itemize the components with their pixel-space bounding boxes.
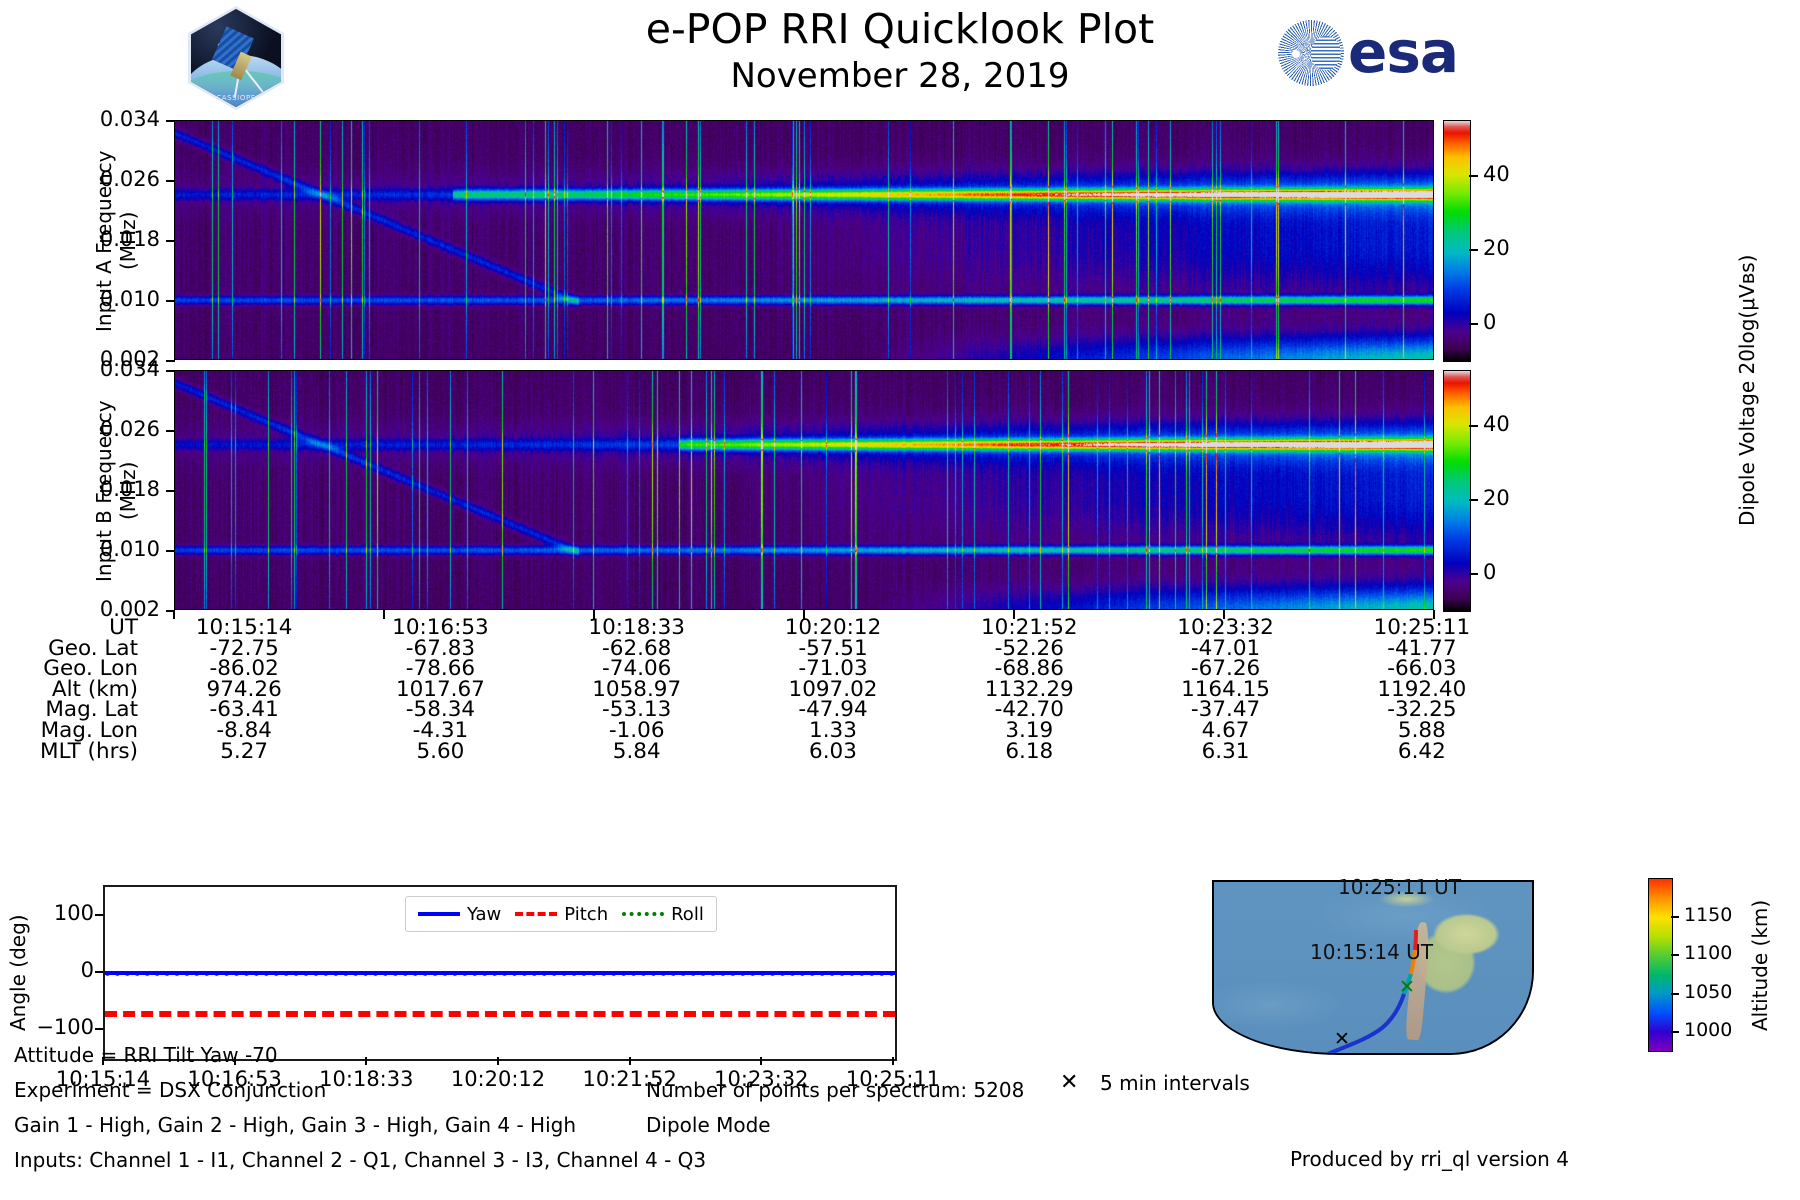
attitude-xtick-label: 10:20:12: [433, 1067, 563, 1091]
colorbar-tick-label: 40: [1483, 412, 1510, 436]
esa-swirl-icon: [1278, 20, 1344, 86]
ephemeris-cell: 5.27: [146, 742, 342, 763]
ephemeris-cell: 6.03: [735, 742, 931, 763]
map-colorbar-tick-label: 1050: [1684, 981, 1732, 1003]
spectrogram-xtick-mark: [383, 610, 385, 619]
spectrogram-a-colorbar: [1443, 120, 1471, 362]
ephemeris-cell: 6.18: [931, 742, 1127, 763]
spectrogram-image: [175, 121, 1433, 359]
ephemeris-cell: 6.42: [1324, 742, 1520, 763]
map-orbit-track: [1214, 882, 1534, 1055]
spectrogram-ytick-mark: [166, 240, 175, 242]
spectrogram-ytick-label: 0.002: [55, 597, 160, 621]
spectrogram-ytick-label: 0.018: [55, 227, 160, 251]
spectrogram-ytick-mark: [166, 120, 175, 122]
footer-inputs: Inputs: Channel 1 - I1, Channel 2 - Q1, …: [14, 1148, 706, 1172]
attitude-xtick-label: 10:16:53: [170, 1067, 300, 1091]
spectrogram-ytick-mark: [166, 180, 175, 182]
map-marker-mid-x: ✕: [1399, 978, 1415, 997]
attitude-series-yaw: [105, 971, 895, 975]
colorbar-tick-mark: [1469, 499, 1478, 501]
ephemeris-cell: 5.60: [342, 742, 538, 763]
ephemeris-row: MLT (hrs)5.275.605.846.036.186.316.42: [0, 742, 1520, 763]
legend-swatch-yaw: [418, 912, 460, 916]
legend-label: Roll: [671, 904, 704, 925]
ephemeris-cell: 5.84: [539, 742, 735, 763]
legend-label: Yaw: [467, 904, 501, 925]
attitude-series-pitch: [105, 1011, 895, 1017]
attitude-xtick-mark: [497, 1057, 499, 1065]
attitude-ytick-mark: [95, 914, 103, 916]
colorbar-tick-label: 40: [1483, 162, 1510, 186]
colorbar-tick-label: 0: [1483, 560, 1496, 584]
cassiope-mission-patch-icon: CASSIOPE: [188, 6, 284, 110]
footer-produced-by: Produced by rri_ql version 4: [1290, 1147, 1569, 1171]
attitude-ytick-label: 100: [22, 901, 94, 925]
spectrogram-b-panel[interactable]: [174, 370, 1434, 610]
spectrogram-ytick-mark: [166, 550, 175, 552]
attitude-xtick-mark: [234, 1057, 236, 1065]
map-colorbar-tick-mark: [1671, 916, 1679, 918]
map-colorbar-tick-label: 1150: [1684, 904, 1732, 926]
spectrogram-b-colorbar: [1443, 370, 1471, 612]
attitude-xtick-label: 10:21:52: [565, 1067, 695, 1091]
map-colorbar-tick-mark: [1671, 1031, 1679, 1033]
footer-attitude: Attitude = RRI Tilt Yaw -70: [14, 1043, 278, 1067]
map-marker-start-x: ✕: [1334, 1030, 1350, 1049]
spectrogram-ytick-label: 0.034: [55, 107, 160, 131]
map-label-end-time: 10:25:11 UT: [1338, 875, 1461, 899]
colorbar-tick-mark: [1469, 573, 1478, 575]
attitude-ytick-mark: [95, 1028, 103, 1030]
spectrogram-ytick-mark: [166, 370, 175, 372]
spectrogram-ytick-label: 0.026: [55, 167, 160, 191]
esa-logo: esa: [1278, 16, 1474, 90]
spectrogram-ytick-label: 0.034: [55, 357, 160, 381]
spectrogram-ytick-label: 0.018: [55, 477, 160, 501]
legend-swatch-roll: [622, 912, 664, 916]
attitude-xtick-label: 10:25:11: [828, 1067, 958, 1091]
spectrogram-ytick-mark: [166, 430, 175, 432]
ephemeris-table: UT10:15:1410:16:5310:18:3310:20:1210:21:…: [0, 618, 1520, 762]
spectrogram-ytick-mark: [166, 360, 175, 362]
attitude-xtick-mark: [102, 1057, 104, 1065]
spectrogram-xtick-mark: [803, 610, 805, 619]
legend-label: Pitch: [564, 904, 608, 925]
map-altitude-colorbar: [1648, 878, 1673, 1052]
attitude-ytick-label: 0: [22, 958, 94, 982]
map-colorbar-label: Altitude (km): [1748, 880, 1772, 1050]
colorbar-tick-mark: [1469, 249, 1478, 251]
colorbar-tick-mark: [1469, 323, 1478, 325]
spectrogram-ytick-mark: [166, 490, 175, 492]
spectrogram-xtick-mark: [1223, 610, 1225, 619]
esa-wordmark: esa: [1348, 22, 1458, 82]
attitude-xtick-mark: [365, 1057, 367, 1065]
attitude-ytick-mark: [95, 971, 103, 973]
map-colorbar-tick-mark: [1671, 993, 1679, 995]
attitude-xtick-label: 10:23:32: [696, 1067, 826, 1091]
spectrogram-xtick-mark: [173, 610, 175, 619]
spectrogram-ytick-label: 0.010: [55, 537, 160, 561]
ground-track-map[interactable]: ✕ ✕: [1212, 880, 1534, 1055]
legend-item-roll[interactable]: Roll: [622, 904, 704, 925]
spectrogram-xtick-mark: [1013, 610, 1015, 619]
spectrogram-ytick-label: 0.026: [55, 417, 160, 441]
map-colorbar-tick-label: 1000: [1684, 1019, 1732, 1041]
colorbar-tick-label: 20: [1483, 486, 1510, 510]
ephemeris-cell: 6.31: [1127, 742, 1323, 763]
spectrogram-ytick-label: 0.010: [55, 287, 160, 311]
legend-item-yaw[interactable]: Yaw: [418, 904, 501, 925]
footer-mode: Dipole Mode: [646, 1113, 771, 1137]
attitude-xtick-label: 10:15:14: [38, 1067, 168, 1091]
colorbar-tick-mark: [1469, 175, 1478, 177]
spectrogram-a-panel[interactable]: [174, 120, 1434, 360]
legend-swatch-pitch: [515, 912, 557, 916]
map-colorbar-tick-label: 1100: [1684, 942, 1732, 964]
mission-patch-label: CASSIOPE: [191, 94, 281, 102]
attitude-xtick-mark: [892, 1057, 894, 1065]
colorbar-tick-mark: [1469, 425, 1478, 427]
colorbar-tick-label: 20: [1483, 236, 1510, 260]
map-label-start-time: 10:15:14 UT: [1310, 940, 1433, 964]
ephemeris-row-label: MLT (hrs): [0, 742, 146, 763]
colorbar-axis-label: Dipole Voltage 20log(μVʙs): [1735, 175, 1759, 605]
map-interval-legend-label: 5 min intervals: [1100, 1071, 1250, 1095]
attitude-xtick-label: 10:18:33: [301, 1067, 431, 1091]
map-interval-marker-icon: ✕: [1060, 1070, 1078, 1095]
spectrogram-xtick-mark: [593, 610, 595, 619]
attitude-xtick-mark: [629, 1057, 631, 1065]
spectrogram-image: [175, 371, 1433, 609]
colorbar-tick-label: 0: [1483, 310, 1496, 334]
map-colorbar-tick-mark: [1671, 954, 1679, 956]
legend-item-pitch[interactable]: Pitch: [515, 904, 608, 925]
spectrogram-ytick-mark: [166, 300, 175, 302]
attitude-legend[interactable]: YawPitchRoll: [405, 896, 717, 932]
attitude-ytick-label: −100: [22, 1015, 94, 1039]
spectrogram-xtick-mark: [1433, 610, 1435, 619]
attitude-xtick-mark: [760, 1057, 762, 1065]
footer-gain: Gain 1 - High, Gain 2 - High, Gain 3 - H…: [14, 1113, 576, 1137]
